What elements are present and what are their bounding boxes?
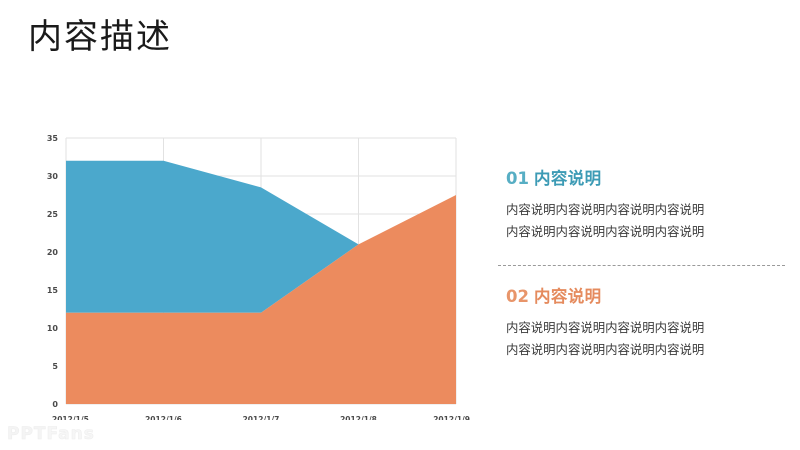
content-block-01-line-2: 内容说明内容说明内容说明内容说明 <box>506 221 778 243</box>
content-block-01-body: 内容说明内容说明内容说明内容说明 内容说明内容说明内容说明内容说明 <box>506 199 778 243</box>
watermark-prefix: PPT <box>7 424 47 444</box>
x-axis-tick-label: 2012/1/8 <box>340 415 377 420</box>
chart-plot-area: 05101520253035 2012/1/52012/1/62012/1/72… <box>22 128 474 420</box>
content-block-02-line-1: 内容说明内容说明内容说明内容说明 <box>506 317 778 339</box>
content-block-02: 02内容说明 内容说明内容说明内容说明内容说明 内容说明内容说明内容说明内容说明 <box>506 286 778 361</box>
section-divider <box>498 265 785 266</box>
x-axis-tick-label: 2012/1/5 <box>52 415 89 420</box>
area-chart: 05101520253035 2012/1/52012/1/62012/1/72… <box>22 128 474 420</box>
content-column: 01内容说明 内容说明内容说明内容说明内容说明 内容说明内容说明内容说明内容说明… <box>506 168 778 361</box>
content-block-01-heading: 01内容说明 <box>506 168 778 190</box>
y-axis-tick-label: 0 <box>52 400 58 409</box>
y-axis-tick-label: 35 <box>47 134 59 143</box>
content-block-02-heading: 02内容说明 <box>506 286 778 308</box>
y-axis-tick-label: 5 <box>52 362 58 371</box>
content-block-01-title: 内容说明 <box>534 170 602 188</box>
page-title: 内容描述 <box>28 16 172 60</box>
x-axis-tick-label: 2012/1/9 <box>433 415 470 420</box>
chart-y-axis-labels: 05101520253035 <box>47 134 59 409</box>
content-block-02-number: 02 <box>506 287 529 306</box>
content-block-02-line-2: 内容说明内容说明内容说明内容说明 <box>506 339 778 361</box>
y-axis-tick-label: 25 <box>47 210 59 219</box>
content-block-02-body: 内容说明内容说明内容说明内容说明 内容说明内容说明内容说明内容说明 <box>506 317 778 361</box>
x-axis-tick-label: 2012/1/6 <box>145 415 182 420</box>
content-block-02-title: 内容说明 <box>534 288 602 306</box>
chart-x-axis-labels: 2012/1/52012/1/62012/1/72012/1/82012/1/9 <box>52 415 470 420</box>
chart-series-areas <box>66 161 456 404</box>
pptfans-watermark: PPTFans <box>7 424 95 444</box>
y-axis-tick-label: 10 <box>47 324 59 333</box>
watermark-suffix: Fans <box>47 424 95 444</box>
content-block-01-line-1: 内容说明内容说明内容说明内容说明 <box>506 199 778 221</box>
y-axis-tick-label: 20 <box>47 248 59 257</box>
y-axis-tick-label: 15 <box>47 286 59 295</box>
chart-svg: 05101520253035 2012/1/52012/1/62012/1/72… <box>22 128 474 420</box>
y-axis-tick-label: 30 <box>47 172 59 181</box>
content-block-01-number: 01 <box>506 169 529 188</box>
content-block-01: 01内容说明 内容说明内容说明内容说明内容说明 内容说明内容说明内容说明内容说明 <box>506 168 778 243</box>
x-axis-tick-label: 2012/1/7 <box>243 415 280 420</box>
